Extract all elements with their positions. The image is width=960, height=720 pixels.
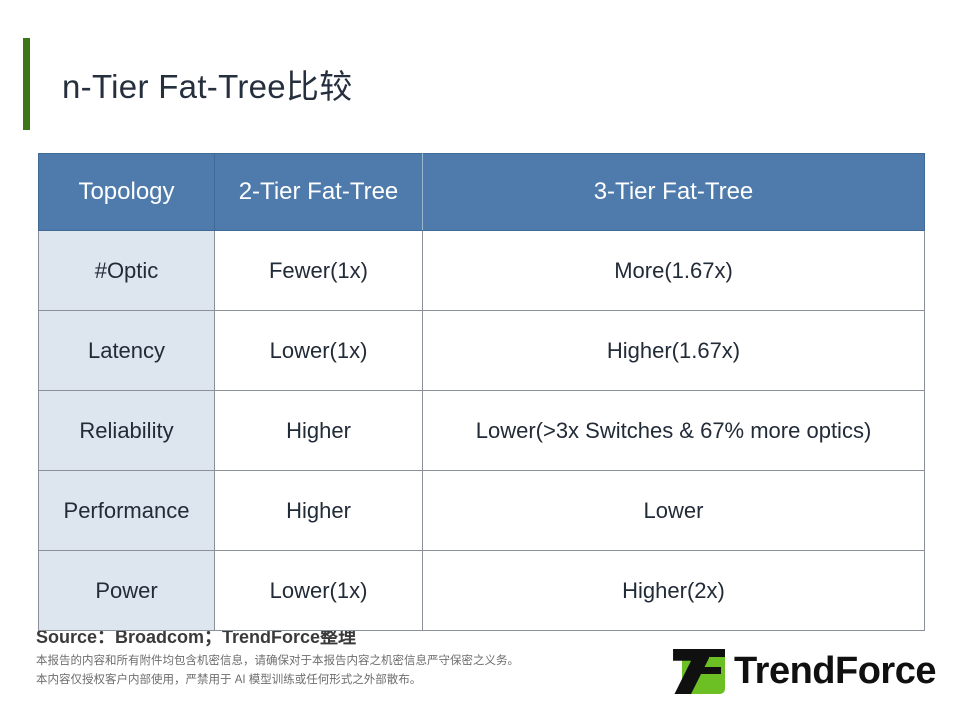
comparison-table: Topology 2-Tier Fat-Tree 3-Tier Fat-Tree… (38, 153, 925, 631)
table-row: Power Lower(1x) Higher(2x) (39, 551, 925, 631)
cell-power-three-tier: Higher(2x) (423, 551, 925, 631)
column-header-topology: Topology (39, 154, 215, 231)
table-header-row: Topology 2-Tier Fat-Tree 3-Tier Fat-Tree (39, 154, 925, 231)
disclaimer-line-1: 本报告的内容和所有附件均包含机密信息，请确保对于本报告内容之机密信息严守保密之义… (36, 652, 519, 671)
page-title: n-Tier Fat-Tree比较 (62, 60, 353, 108)
row-label-latency: Latency (39, 311, 215, 391)
row-label-performance: Performance (39, 471, 215, 551)
column-header-two-tier: 2-Tier Fat-Tree (215, 154, 423, 231)
cell-performance-two-tier: Higher (215, 471, 423, 551)
table-row: Reliability Higher Lower(>3x Switches & … (39, 391, 925, 471)
cell-reliability-two-tier: Higher (215, 391, 423, 471)
row-label-power: Power (39, 551, 215, 631)
table-row: #Optic Fewer(1x) More(1.67x) (39, 231, 925, 311)
title-accent-bar (23, 38, 30, 130)
trendforce-logo: TrendForce (673, 645, 936, 697)
table-row: Latency Lower(1x) Higher(1.67x) (39, 311, 925, 391)
cell-optic-three-tier: More(1.67x) (423, 231, 925, 311)
comparison-table-container: Topology 2-Tier Fat-Tree 3-Tier Fat-Tree… (38, 153, 924, 614)
trendforce-logo-mark-icon (673, 648, 725, 694)
cell-latency-two-tier: Lower(1x) (215, 311, 423, 391)
cell-optic-two-tier: Fewer(1x) (215, 231, 423, 311)
disclaimer-line-2: 本内容仅授权客户内部使用，严禁用于 AI 模型训练或任何形式之外部散布。 (36, 671, 519, 690)
column-header-three-tier: 3-Tier Fat-Tree (423, 154, 925, 231)
trendforce-logo-wordmark: TrendForce (734, 652, 936, 690)
cell-latency-three-tier: Higher(1.67x) (423, 311, 925, 391)
table-body: #Optic Fewer(1x) More(1.67x) Latency Low… (39, 231, 925, 631)
table-header: Topology 2-Tier Fat-Tree 3-Tier Fat-Tree (39, 154, 925, 231)
cell-reliability-three-tier: Lower(>3x Switches & 67% more optics) (423, 391, 925, 471)
row-label-optic: #Optic (39, 231, 215, 311)
row-label-reliability: Reliability (39, 391, 215, 471)
slide-title-block: n-Tier Fat-Tree比较 (23, 38, 353, 130)
table-row: Performance Higher Lower (39, 471, 925, 551)
cell-performance-three-tier: Lower (423, 471, 925, 551)
cell-power-two-tier: Lower(1x) (215, 551, 423, 631)
disclaimer-note: 本报告的内容和所有附件均包含机密信息，请确保对于本报告内容之机密信息严守保密之义… (36, 652, 519, 690)
